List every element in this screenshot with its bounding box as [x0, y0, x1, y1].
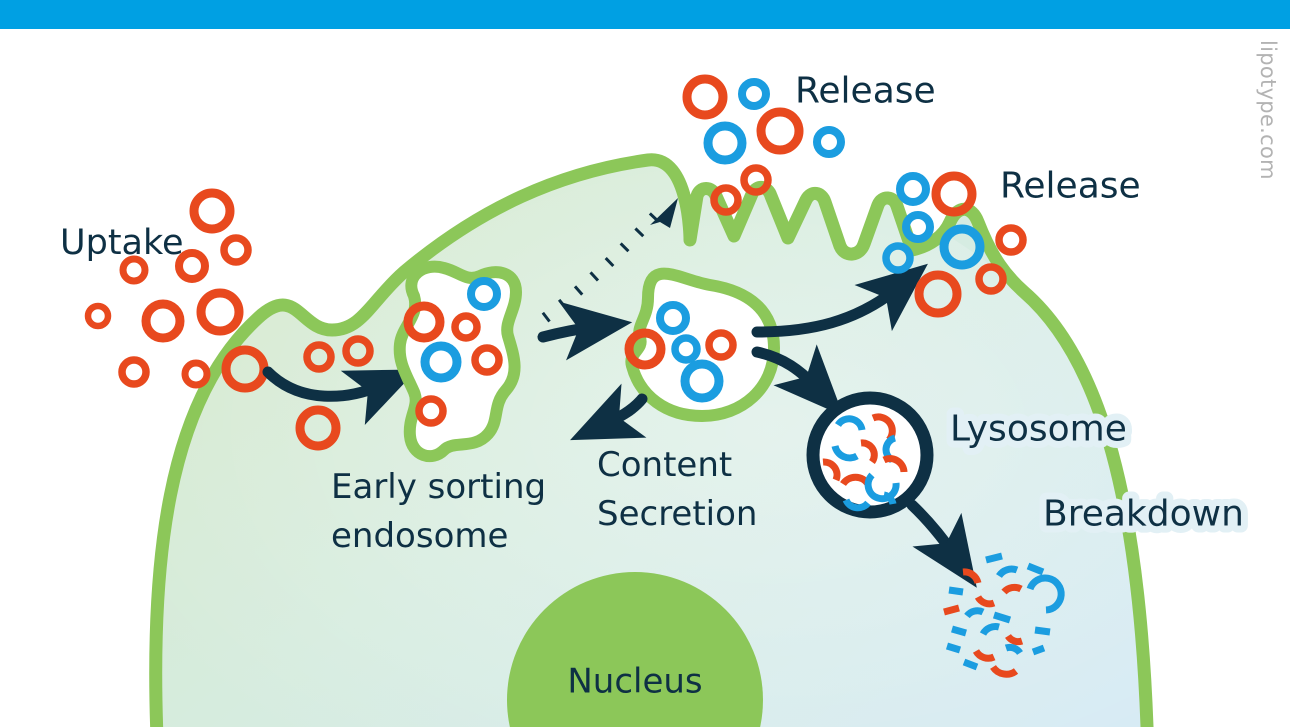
- cell-trafficking-diagram: Nucleus Uptake: [0, 0, 1290, 727]
- diagram-stage: Nucleus Uptake: [0, 0, 1290, 727]
- watermark: lipotype.com: [1254, 40, 1284, 260]
- lysosome: [813, 398, 927, 512]
- particle-orange: [761, 112, 799, 150]
- watermark-text: lipotype.com: [1256, 40, 1280, 180]
- particle-blue: [708, 126, 742, 160]
- early-sorting-endosome: [400, 267, 516, 457]
- content-secretion-label-line1: Content: [597, 445, 732, 485]
- early-sorting-endosome-label-line2: endosome: [331, 516, 508, 556]
- particle-orange: [194, 193, 230, 229]
- particle-orange: [687, 79, 723, 115]
- particle-orange: [224, 238, 248, 262]
- release-right-label: Release: [1000, 166, 1141, 207]
- particle-orange: [201, 293, 239, 331]
- secretion-vesicle: [629, 274, 774, 416]
- nucleus-label: Nucleus: [567, 662, 702, 702]
- uptake-label: Uptake: [60, 223, 184, 263]
- release-top-label: Release: [795, 71, 936, 112]
- lysosome-label: Lysosome: [950, 409, 1127, 450]
- content-secretion-label-line2: Secretion: [597, 494, 757, 534]
- particle-blue: [900, 176, 926, 202]
- particle-orange: [122, 360, 146, 384]
- breakdown-label: Breakdown: [1043, 494, 1244, 535]
- particle-orange: [185, 363, 207, 385]
- particle-blue: [742, 82, 766, 106]
- particle-orange: [146, 304, 180, 338]
- particle-blue: [817, 130, 841, 154]
- early-sorting-endosome-label-line1: Early sorting: [331, 467, 546, 507]
- particle-orange: [999, 228, 1023, 252]
- particle-orange: [88, 306, 108, 326]
